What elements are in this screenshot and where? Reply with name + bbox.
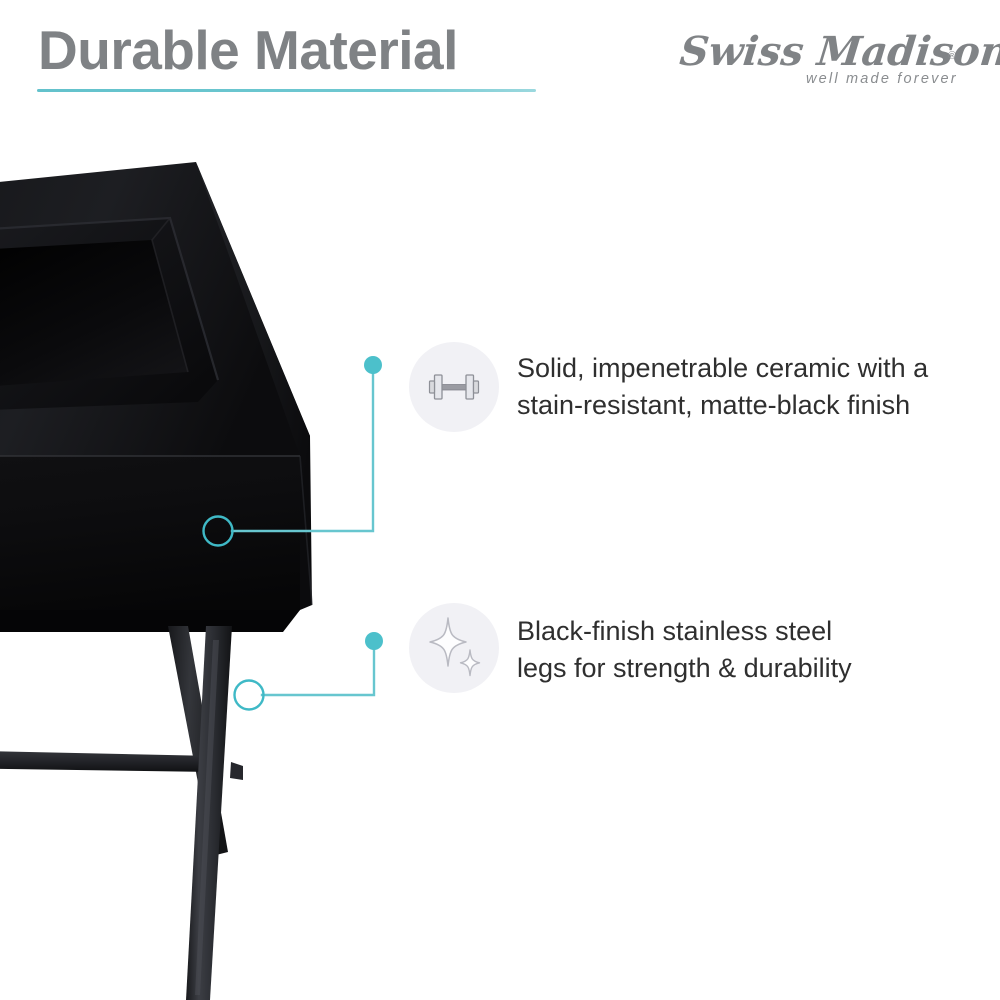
- callout-icon-badge-1: [409, 342, 499, 432]
- callout-icon-badge-2: [409, 603, 499, 693]
- callout-text-2: Black-finish stainless steel legs for st…: [517, 613, 852, 687]
- brand-logo: Swiss Madison ® well made forever: [680, 28, 980, 94]
- title-underline-rule: [37, 89, 536, 92]
- leg-crossbar: [0, 750, 214, 772]
- callout-text-2-line-1: Black-finish stainless steel: [517, 613, 852, 650]
- infographic-canvas: Durable Material Swiss Madison ® well ma…: [0, 0, 1000, 1000]
- sparkle-icon: [419, 613, 489, 683]
- page-title: Durable Material: [38, 22, 458, 80]
- sink-front-body: [0, 456, 300, 626]
- connector-endpoint-dot-2: [365, 632, 383, 650]
- callout-text-2-line-2: legs for strength & durability: [517, 650, 852, 687]
- callout-text-1-line-2: stain-resistant, matte-black finish: [517, 387, 928, 424]
- leg-bracket-hardware: [230, 762, 243, 780]
- sink-underside-shadow: [0, 610, 300, 632]
- brand-wordmark: Swiss Madison: [678, 28, 983, 75]
- brand-tagline: well made forever: [806, 71, 958, 87]
- registered-trademark-icon: ®: [948, 50, 956, 62]
- callout-text-1: Solid, impenetrable ceramic with a stain…: [517, 350, 928, 424]
- connector-endpoint-dot-1: [364, 356, 382, 374]
- callout-text-1-line-1: Solid, impenetrable ceramic with a: [517, 350, 928, 387]
- product-image-sink: [0, 140, 340, 1000]
- dumbbell-icon: [423, 356, 485, 418]
